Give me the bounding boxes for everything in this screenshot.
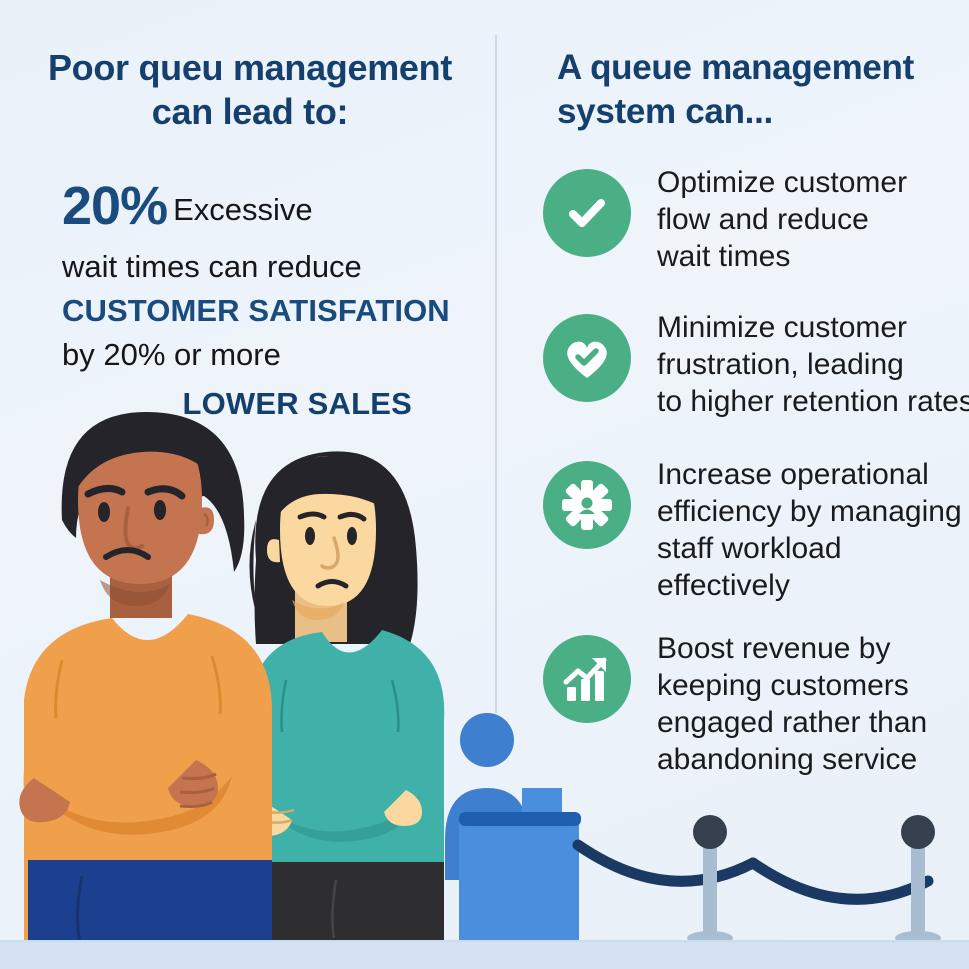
benefit-text: Minimize customer frustration, leading t… bbox=[657, 310, 969, 421]
right-column: A queue management system can... Optimiz… bbox=[495, 0, 969, 969]
right-heading: A queue management system can... bbox=[557, 46, 969, 134]
gear-icon bbox=[543, 461, 631, 549]
left-stat-block: 20%Excessive wait times can reduce CUSTO… bbox=[62, 168, 482, 377]
stat-line-4: by 20% or more bbox=[62, 333, 482, 377]
infographic-canvas: Poor queu management can lead to: 20%Exc… bbox=[0, 0, 969, 969]
lower-sales-callout: LOWER SALES bbox=[60, 386, 412, 422]
benefit-text: Optimize customer flow and reduce wait t… bbox=[657, 165, 969, 276]
benefit-item-boost-revenue: Boost revenue by keeping customers engag… bbox=[543, 631, 969, 779]
benefit-text: Boost revenue by keeping customers engag… bbox=[657, 631, 969, 779]
left-heading: Poor queu management can lead to: bbox=[20, 46, 480, 134]
stat-percent-value: 20% bbox=[62, 176, 167, 236]
left-column: Poor queu management can lead to: 20%Exc… bbox=[0, 0, 495, 969]
check-circle-icon bbox=[543, 169, 631, 257]
heart-check-icon bbox=[543, 314, 631, 402]
benefit-text: Increase operational efficiency by manag… bbox=[657, 457, 969, 605]
stat-emphasis-text: CUSTOMER SATISFATION bbox=[62, 289, 482, 333]
stat-line-2: wait times can reduce bbox=[62, 245, 482, 289]
benefit-item-optimize-flow: Optimize customer flow and reduce wait t… bbox=[543, 165, 969, 276]
growth-chart-icon bbox=[543, 635, 631, 723]
benefit-item-minimize-frustration: Minimize customer frustration, leading t… bbox=[543, 310, 969, 421]
stat-intro-text: Excessive bbox=[173, 192, 313, 227]
benefit-item-increase-efficiency: Increase operational efficiency by manag… bbox=[543, 457, 969, 605]
